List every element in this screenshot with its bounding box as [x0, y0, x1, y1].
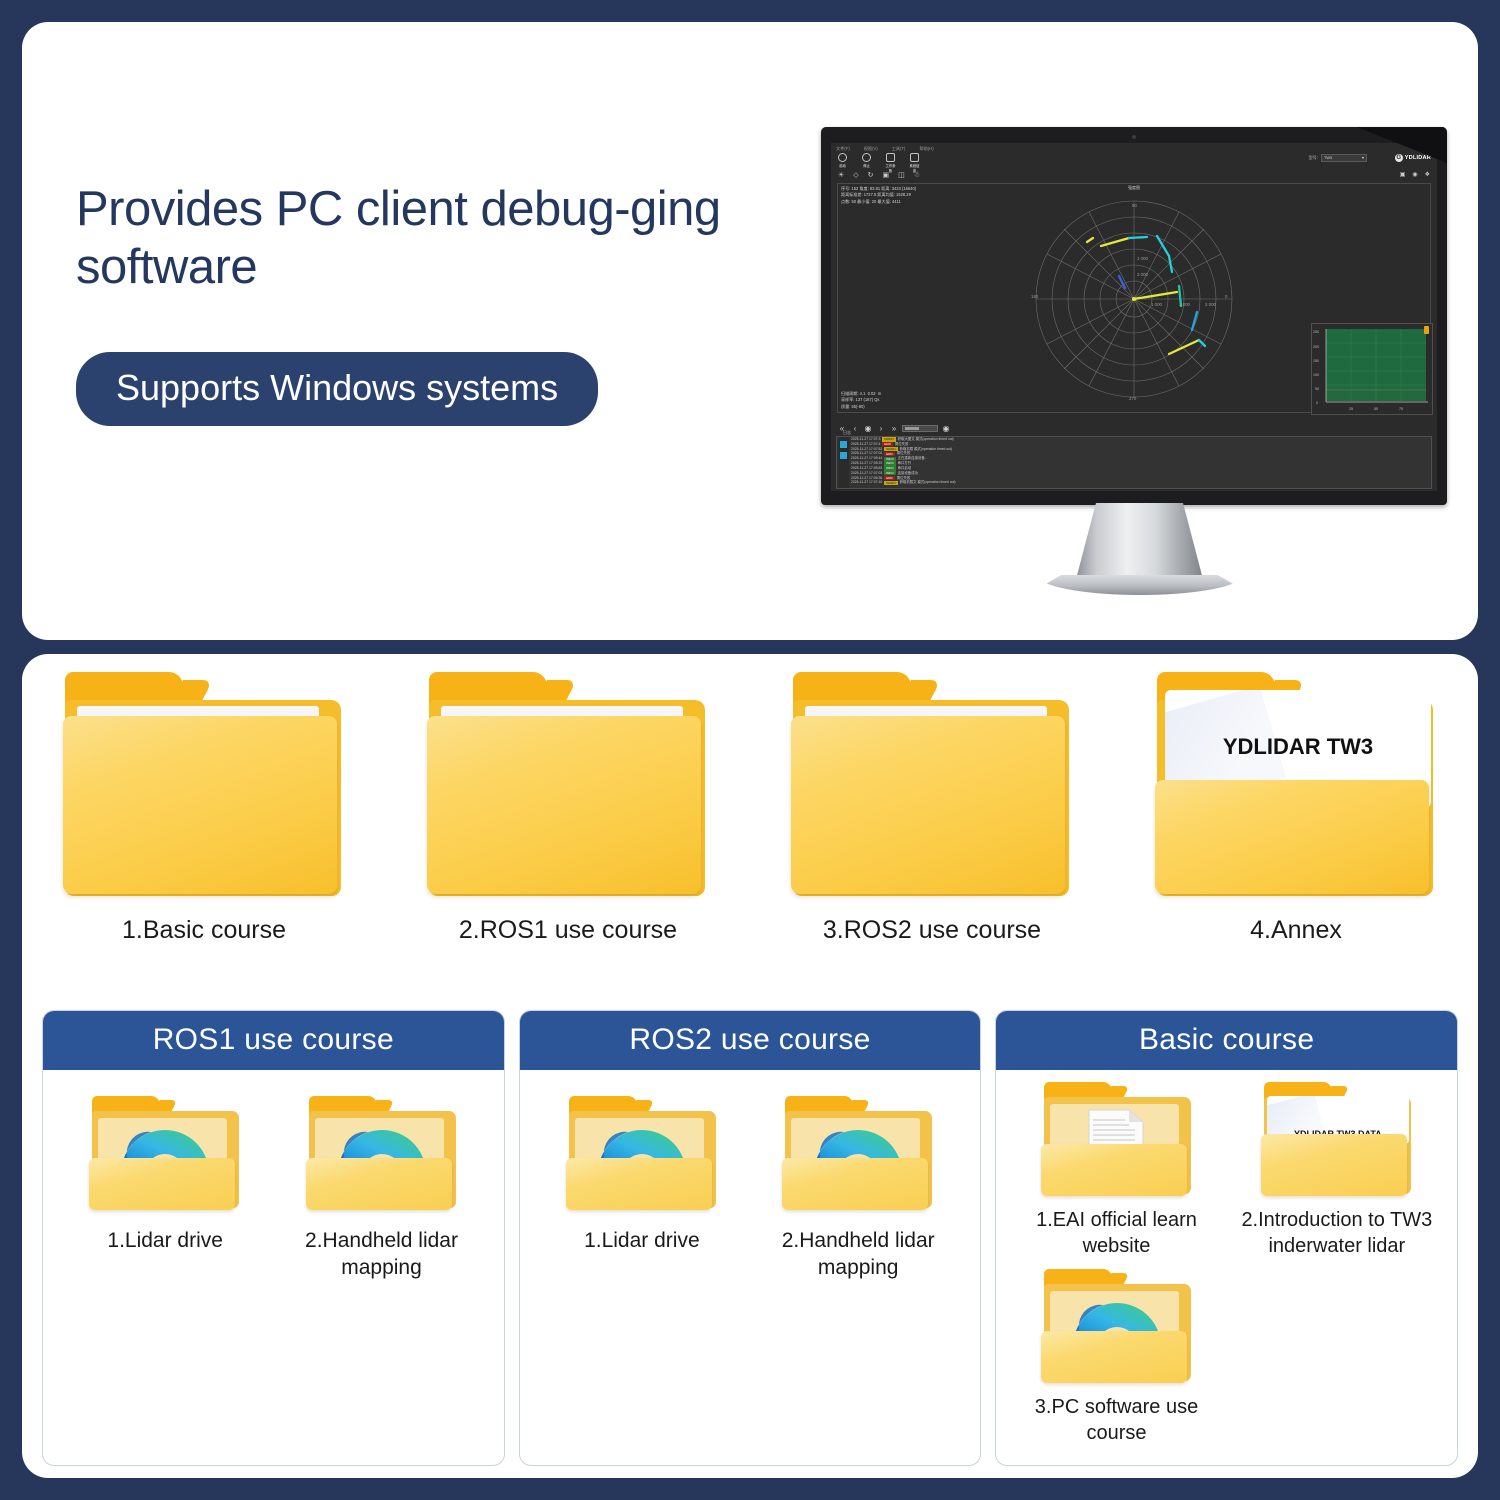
- folder-icon: [427, 672, 709, 904]
- prev-icon[interactable]: ‹: [850, 424, 860, 433]
- log-panel-title: 日志: [843, 430, 851, 436]
- svg-text:250: 250: [1313, 330, 1319, 334]
- folder-caption: 2.Handheld lidar mapping: [273, 1228, 489, 1282]
- settings-gear-icon[interactable]: 工作参数: [885, 153, 896, 173]
- hero-card: Provides PC client debug-ging software S…: [22, 22, 1478, 640]
- monitor-illustration: 文件(F) 视图(V) 工具(T) 帮助(H) 启动 停止 工作参数: [812, 107, 1467, 607]
- panel-row: 1.Lidar drive 2.Handheld: [534, 1096, 967, 1282]
- folder-lidar-drive[interactable]: 1.Lidar drive: [57, 1096, 273, 1282]
- record-icon[interactable]: 启动: [837, 153, 848, 173]
- ros-logo-folder-icon: [1041, 1269, 1193, 1387]
- screenshot-icon[interactable]: ▣: [1400, 171, 1406, 178]
- svg-text:75: 75: [1399, 407, 1403, 411]
- folder-icon: [63, 672, 345, 904]
- panel-ros1-use-course: ROS1 use course: [42, 1010, 505, 1466]
- intensity-chart: 050100 150200250 255075: [1311, 323, 1433, 415]
- svg-text:1 000: 1 000: [1151, 302, 1163, 307]
- menu-file[interactable]: 文件(F): [836, 146, 850, 152]
- settings-icon[interactable]: ❖: [1425, 171, 1430, 178]
- svg-text:25: 25: [1349, 407, 1353, 411]
- primary-toolbar[interactable]: 启动 停止 工作参数 系统信息: [837, 153, 920, 173]
- device-label: 型号:: [1308, 155, 1318, 161]
- svg-text:180: 180: [1031, 294, 1039, 299]
- folder-annex[interactable]: YDLIDAR TW3 4.Annex: [1114, 672, 1478, 945]
- svg-text:150: 150: [1313, 359, 1319, 363]
- info-icon[interactable]: 系统信息: [909, 153, 920, 173]
- folder-caption: 2.Handheld lidar mapping: [750, 1228, 966, 1282]
- svg-text:0: 0: [1225, 294, 1228, 299]
- documents-folder-icon: [1041, 1082, 1193, 1200]
- panel-ros2-use-course: ROS2 use course 1: [519, 1010, 982, 1466]
- ros-logo-folder-icon: [89, 1096, 241, 1214]
- svg-text:200: 200: [1313, 345, 1319, 349]
- sun-icon[interactable]: ☀: [838, 172, 844, 179]
- polar-scan-plot: 900 180270 1 0002 000 1 0002 000 3 000: [1029, 194, 1239, 404]
- log-gutter: [839, 437, 849, 488]
- panel-basic-course: Basic course: [995, 1010, 1458, 1466]
- playback-slider[interactable]: [902, 425, 938, 432]
- svg-text:90: 90: [1132, 203, 1137, 208]
- folder-pc-software-use-course[interactable]: 3.PC software use course: [1006, 1269, 1226, 1446]
- person-icon[interactable]: ☃: [914, 172, 920, 179]
- folder-handheld-lidar-mapping[interactable]: 2.Handheld lidar mapping: [273, 1096, 489, 1282]
- monitor-bezel: 文件(F) 视图(V) 工具(T) 帮助(H) 启动 停止 工作参数: [821, 127, 1447, 505]
- panel-row: 1.EAI official learn website YDLIDAR TW3…: [1006, 1082, 1447, 1259]
- last-icon[interactable]: »: [889, 424, 899, 433]
- log-list[interactable]: 2025-11-27 17:07:3WARN获取大图文 模式(operation…: [837, 437, 1431, 485]
- software-screen: 文件(F) 视图(V) 工具(T) 帮助(H) 启动 停止 工作参数: [831, 143, 1437, 491]
- ydlidar-mark-icon: G: [1395, 154, 1403, 162]
- panel-spacer: [1227, 1269, 1447, 1446]
- folder-caption: 3.ROS2 use course: [750, 916, 1114, 945]
- svg-text:50: 50: [1315, 387, 1319, 391]
- save-icon[interactable]: ▣: [883, 172, 890, 179]
- svg-text:3 000: 3 000: [1205, 302, 1217, 307]
- ydlidar-wordmark: YDLIDAR: [1405, 155, 1431, 161]
- globe-icon[interactable]: ◉: [1412, 171, 1417, 178]
- course-panels: ROS1 use course: [42, 1010, 1458, 1466]
- ros-logo-folder-icon: [566, 1096, 718, 1214]
- folder-caption: 1.Lidar drive: [534, 1228, 750, 1255]
- ydlidar-logo: G YDLIDAR: [1395, 154, 1431, 162]
- scan-stats-bottom: 扫描周期: 4.1 0.02 m 采样率: 137 (187) Qs 质量: 6…: [841, 391, 881, 410]
- folder-caption: 4.Annex: [1114, 916, 1478, 945]
- folder-eai-official-learn-website[interactable]: 1.EAI official learn website: [1006, 1082, 1226, 1259]
- contents-card: 1.Basic course 2.ROS1 use course 3.ROS2 …: [22, 654, 1478, 1478]
- panel-row: 3.PC software use course: [1006, 1269, 1447, 1446]
- monitor-stand-neck: [1076, 503, 1204, 581]
- ros-logo-folder-icon: [782, 1096, 934, 1214]
- svg-text:0: 0: [1316, 401, 1318, 405]
- folder-icon: [791, 672, 1073, 904]
- secondary-toolbar[interactable]: ☀ ◇ ↻ ▣ ◫ ☃: [838, 172, 920, 179]
- log-panel[interactable]: 日志 2025-11-27 17:07:3WARN获取大图文 模式(operat…: [836, 436, 1432, 489]
- menu-tools[interactable]: 工具(T): [892, 146, 906, 152]
- document-title: YDLIDAR TW3: [1223, 734, 1373, 760]
- folder-ros2-use-course[interactable]: 3.ROS2 use course: [750, 672, 1114, 945]
- folder-lidar-drive[interactable]: 1.Lidar drive: [534, 1096, 750, 1282]
- folder-basic-course[interactable]: 1.Basic course: [22, 672, 386, 945]
- panel-title: Basic course: [996, 1011, 1457, 1070]
- folder-caption: 2.ROS1 use course: [386, 916, 750, 945]
- svg-text:1 000: 1 000: [1137, 256, 1149, 261]
- scan-stats-top: 序号: 152 角度: 83.81 距离: 3433 (16640) 距离标准差…: [841, 186, 916, 205]
- folder-caption: 2.Introduction to TW3 inderwater lidar: [1227, 1208, 1447, 1259]
- log-row[interactable]: 2025-11-27 17:07:10WARN获取机载文 模式(operatio…: [837, 480, 1431, 485]
- supports-windows-badge: Supports Windows systems: [76, 352, 598, 426]
- folder-caption: 1.Lidar drive: [57, 1228, 273, 1255]
- toolbar-right-icons[interactable]: ▣ ◉ ❖: [1400, 171, 1430, 178]
- svg-text:50: 50: [1374, 407, 1378, 411]
- folder-handheld-lidar-mapping[interactable]: 2.Handheld lidar mapping: [750, 1096, 966, 1282]
- rotate-icon[interactable]: ↻: [868, 172, 874, 179]
- next-icon[interactable]: ›: [876, 424, 886, 433]
- menu-view[interactable]: 视图(V): [864, 146, 878, 152]
- folder-ros1-use-course[interactable]: 2.ROS1 use course: [386, 672, 750, 945]
- webcam-icon: [1132, 135, 1136, 139]
- page-root: Provides PC client debug-ging software S…: [0, 0, 1500, 1500]
- filter-icon[interactable]: ◇: [853, 172, 858, 179]
- folder-with-document-icon: YDLIDAR TW3: [1155, 672, 1437, 904]
- folder-introduction-to-tw3-underwater-lidar[interactable]: YDLIDAR TW3 DATA 2.Introduction to TW3 i…: [1227, 1082, 1447, 1259]
- monitor-stand-base: [1037, 575, 1243, 595]
- device-select[interactable]: TW3: [1321, 154, 1367, 162]
- playback-controls[interactable]: « ‹ ◉ › » ◉: [837, 424, 951, 433]
- top-level-folder-row: 1.Basic course 2.ROS1 use course 3.ROS2 …: [22, 672, 1478, 945]
- panel-title: ROS1 use course: [43, 1011, 504, 1070]
- panel-title: ROS2 use course: [520, 1011, 981, 1070]
- menu-help[interactable]: 帮助(H): [919, 146, 933, 152]
- folder-caption: 1.EAI official learn website: [1006, 1208, 1226, 1259]
- ros-logo-folder-icon: [306, 1096, 458, 1214]
- stop-icon[interactable]: ◉: [863, 424, 873, 433]
- page-title: Provides PC client debug-ging software: [76, 180, 796, 297]
- svg-text:2 000: 2 000: [1137, 272, 1149, 277]
- stop-icon[interactable]: 停止: [861, 153, 872, 173]
- device-selector-group[interactable]: 型号: TW3: [1308, 154, 1367, 162]
- polar-plot-title: 强度图: [1128, 185, 1140, 191]
- svg-text:100: 100: [1313, 373, 1319, 377]
- alert-badge-icon: [1424, 326, 1429, 334]
- record-icon[interactable]: ◉: [941, 424, 951, 433]
- labeled-document-folder-icon: YDLIDAR TW3 DATA: [1261, 1082, 1413, 1200]
- ruler-icon[interactable]: ◫: [898, 172, 905, 179]
- svg-text:270: 270: [1129, 396, 1137, 401]
- menubar[interactable]: 文件(F) 视图(V) 工具(T) 帮助(H): [836, 146, 934, 152]
- panel-row: 1.Lidar drive 2.Handheld: [57, 1096, 490, 1282]
- folder-caption: 3.PC software use course: [1006, 1395, 1226, 1446]
- folder-caption: 1.Basic course: [22, 916, 386, 945]
